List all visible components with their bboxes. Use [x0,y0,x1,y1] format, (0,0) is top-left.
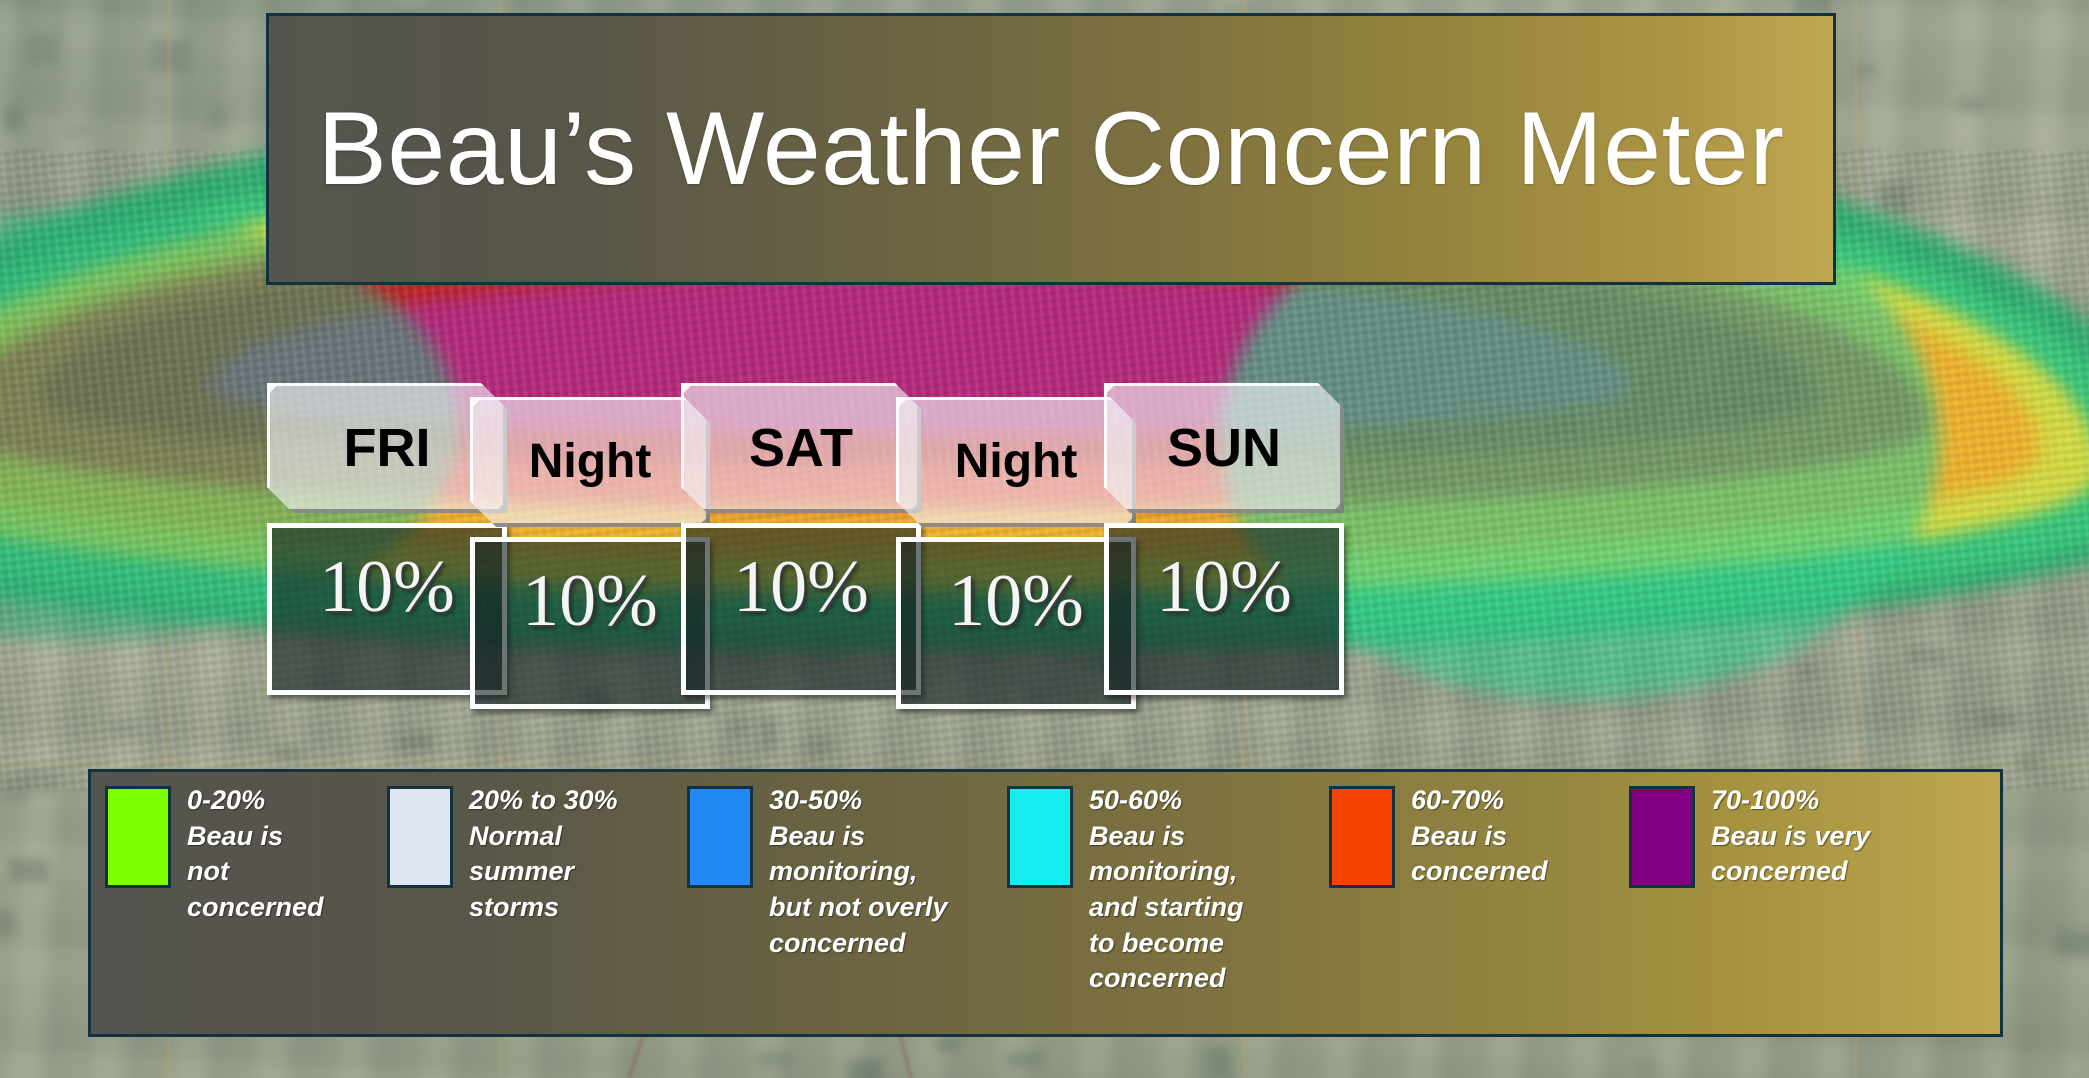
day-header-sun[interactable]: SUN [1104,383,1344,513]
concern-percent-value: 10% [522,564,658,638]
legend-item-60-70: 60-70% Beau is concerned [1329,786,1629,1034]
legend-label-0-20: 0-20% Beau is not concerned [187,783,324,926]
legend-swatch-70-100 [1629,786,1695,888]
day-header-label: Night [529,438,652,486]
legend-item-20-30: 20% to 30% Normal summer storms [387,786,687,1034]
day-header-fri-night[interactable]: Night [470,397,710,527]
day-header-label: SUN [1167,421,1281,475]
concern-value-box-fri-night[interactable]: 10% [470,537,710,709]
legend-item-50-60: 50-60% Beau is monitoring, and starting … [1007,786,1329,1034]
concern-value-box-sat[interactable]: 10% [681,523,921,695]
legend-label-60-70: 60-70% Beau is concerned [1411,783,1548,890]
day-header-label: FRI [344,421,431,475]
legend-swatch-60-70 [1329,786,1395,888]
legend-swatch-0-20 [105,786,171,888]
legend-swatch-50-60 [1007,786,1073,888]
concern-percent-value: 10% [948,564,1084,638]
legend-item-70-100: 70-100% Beau is very concerned [1629,786,1959,1034]
concern-legend: 0-20% Beau is not concerned20% to 30% No… [88,769,2003,1037]
weather-concern-meter-slide: Beau’s Weather Concern Meter FRI10%Night… [0,0,2089,1078]
concern-percent-value: 10% [319,550,455,624]
concern-value-box-sat-night[interactable]: 10% [896,537,1136,709]
legend-swatch-20-30 [387,786,453,888]
day-header-sat[interactable]: SAT [681,383,921,513]
day-header-sat-night[interactable]: Night [896,397,1136,527]
legend-swatch-30-50 [687,786,753,888]
concern-percent-value: 10% [733,550,869,624]
day-header-label: Night [955,438,1078,486]
legend-label-50-60: 50-60% Beau is monitoring, and starting … [1089,783,1244,997]
legend-label-70-100: 70-100% Beau is very concerned [1711,783,1870,890]
legend-item-0-20: 0-20% Beau is not concerned [105,786,387,1034]
concern-value-box-sun[interactable]: 10% [1104,523,1344,695]
concern-percent-value: 10% [1156,550,1292,624]
day-header-label: SAT [749,421,853,475]
legend-item-30-50: 30-50% Beau is monitoring, but not overl… [687,786,1007,1034]
legend-label-30-50: 30-50% Beau is monitoring, but not overl… [769,783,948,961]
legend-label-20-30: 20% to 30% Normal summer storms [469,783,618,926]
